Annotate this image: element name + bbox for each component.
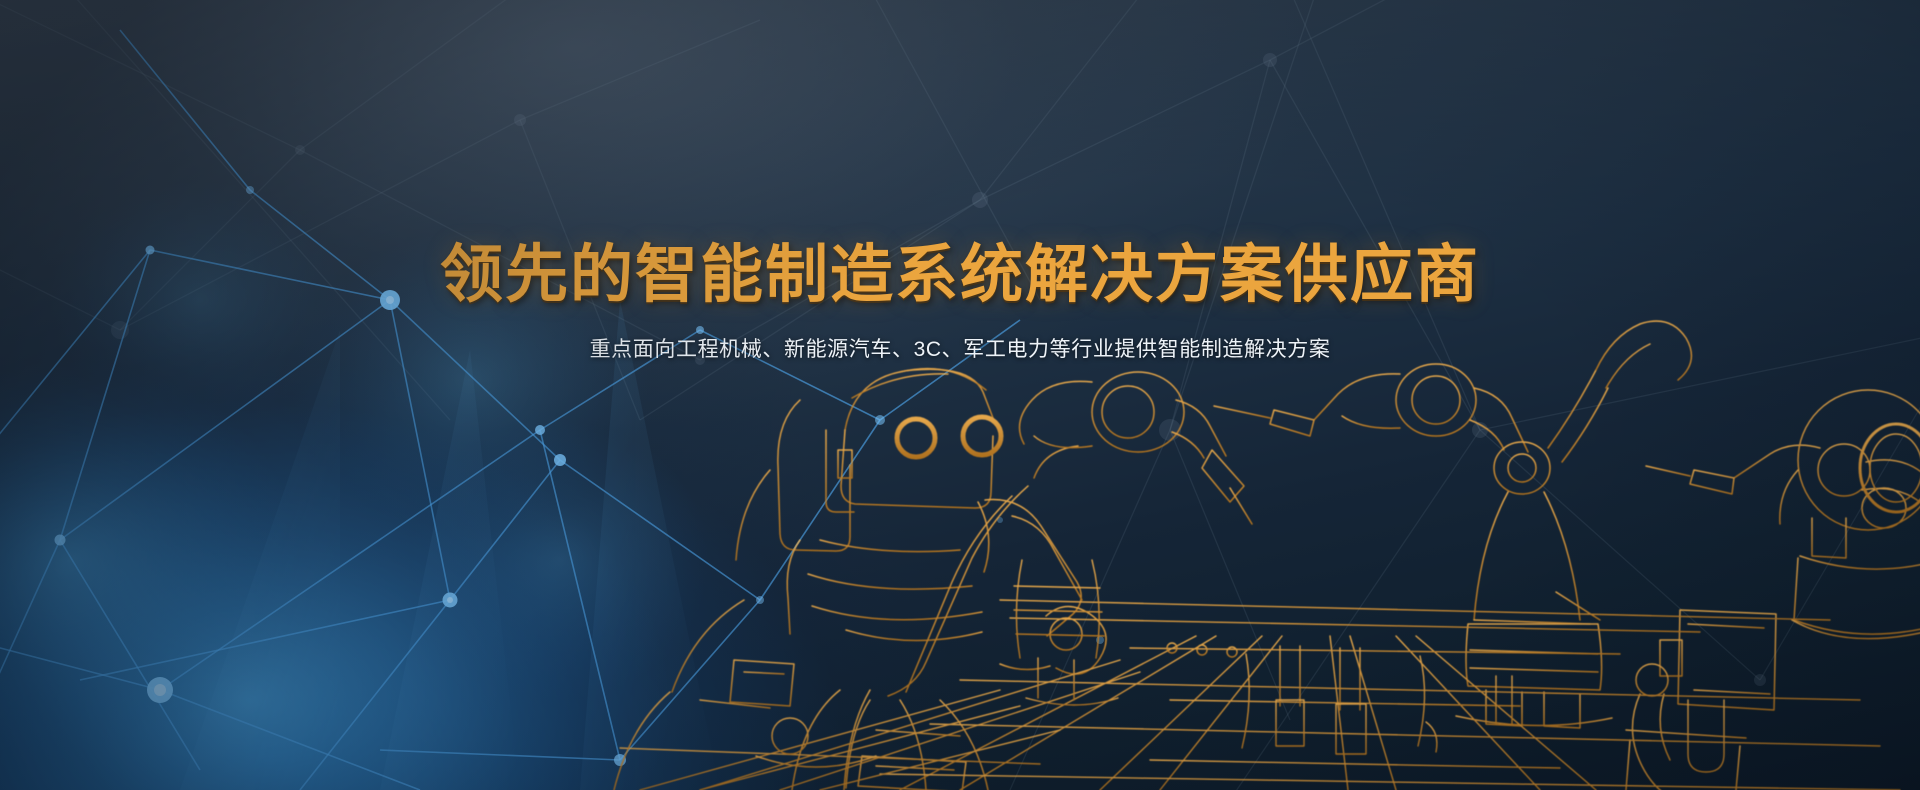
conveyor-rail-assembly — [620, 560, 1900, 790]
robot-head-right — [1556, 390, 1920, 790]
hero-copy: 领先的智能制造系统解决方案供应商 重点面向工程机械、新能源汽车、3C、军工电力等… — [0, 0, 1920, 364]
hero-headline: 领先的智能制造系统解决方案供应商 — [0, 0, 1920, 307]
machinery-left — [556, 470, 876, 790]
hero-subheadline: 重点面向工程机械、新能源汽车、3C、军工电力等行业提供智能制造解决方案 — [0, 307, 1920, 364]
hero-banner: 领先的智能制造系统解决方案供应商 重点面向工程机械、新能源汽车、3C、军工电力等… — [0, 0, 1920, 790]
